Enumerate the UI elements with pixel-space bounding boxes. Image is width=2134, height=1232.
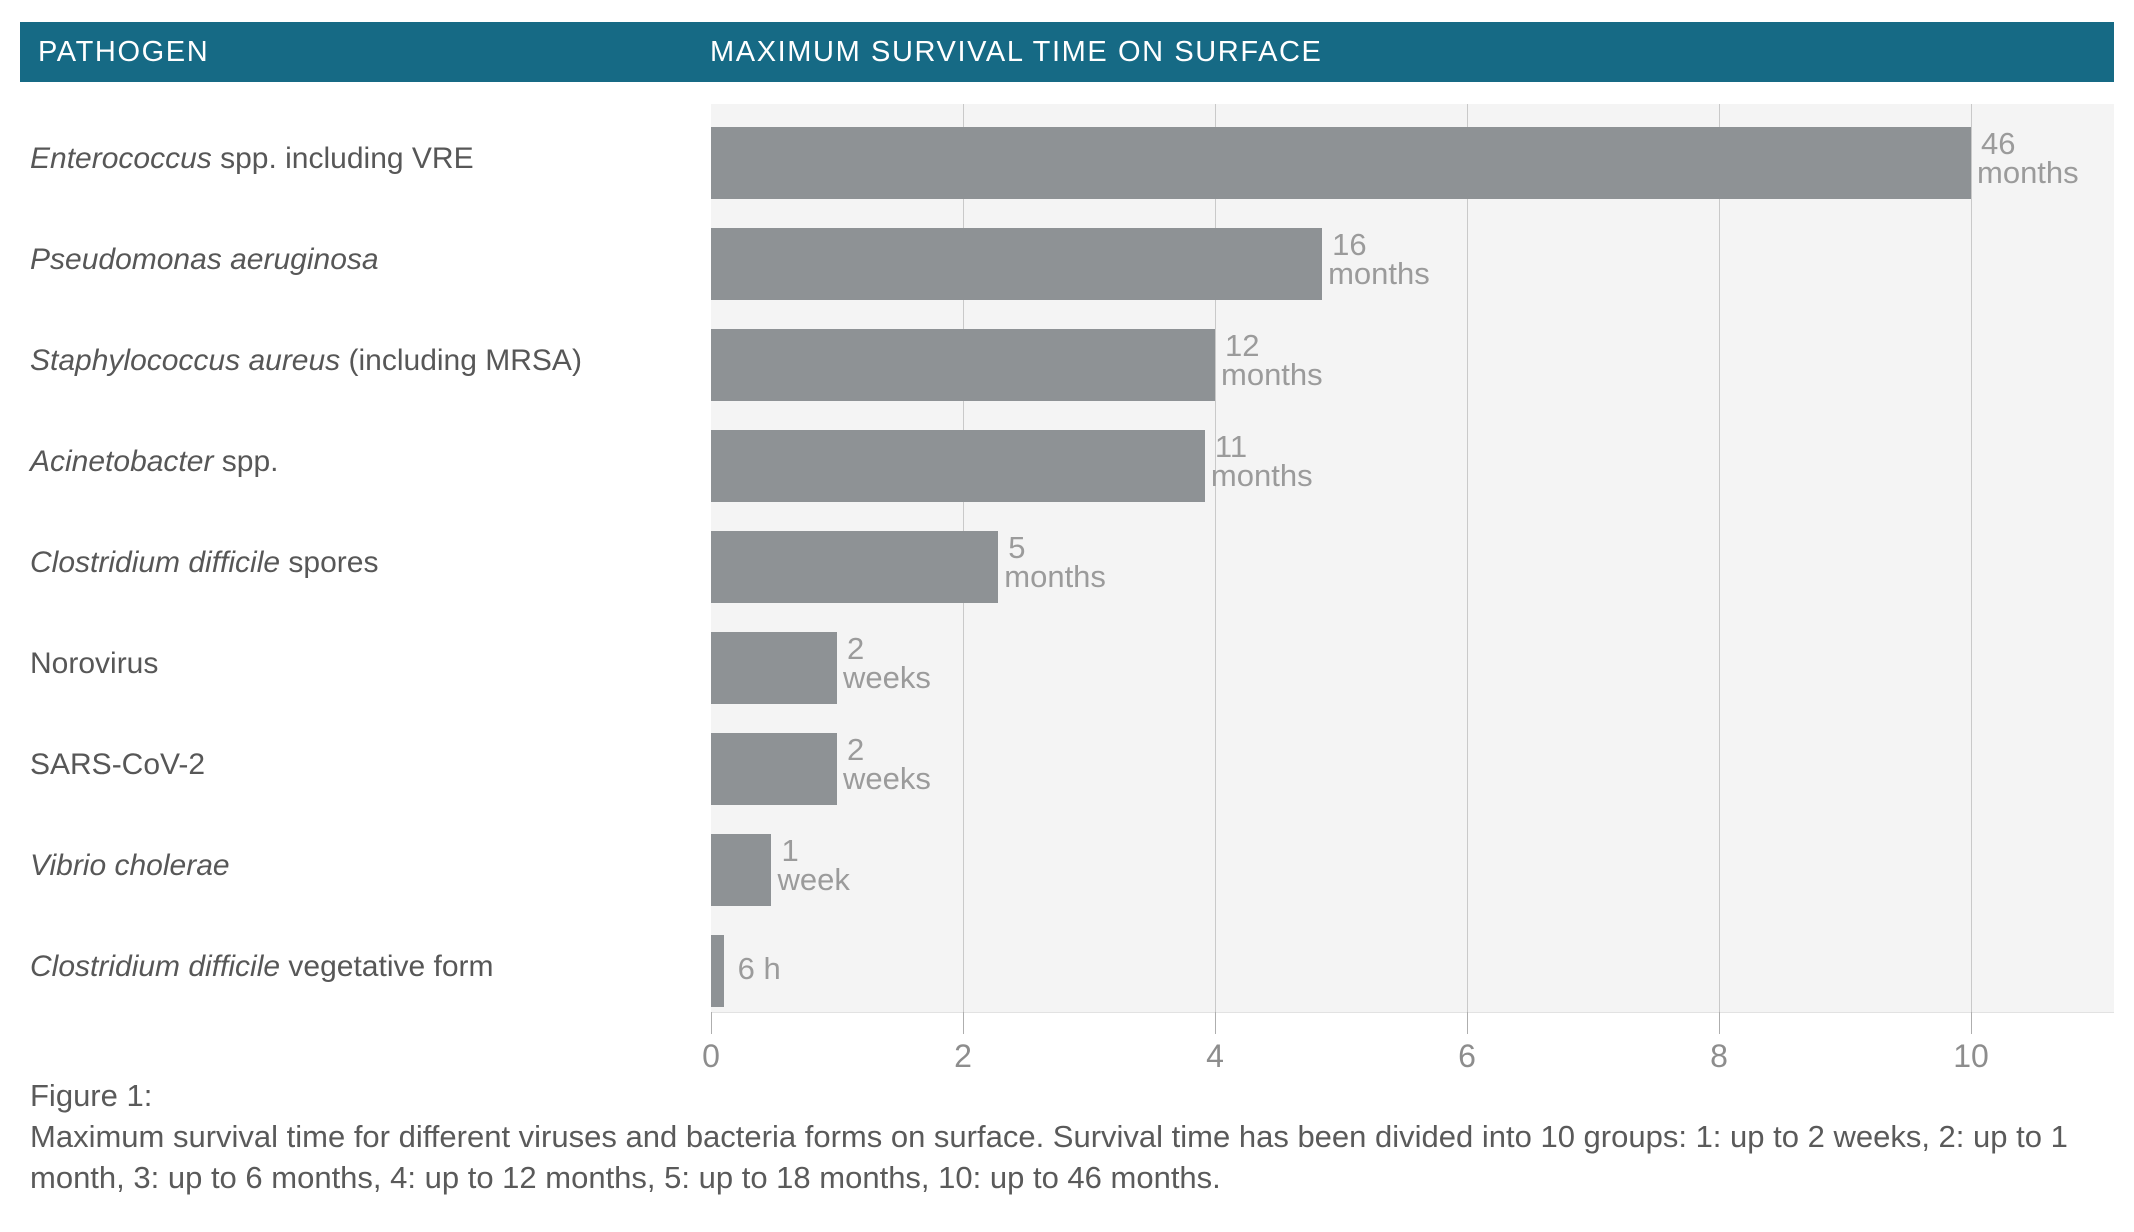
- x-axis-baseline: [711, 1012, 2114, 1013]
- pathogen-label-suffix: SARS-CoV-2: [30, 748, 205, 781]
- bar-value-label: 2weeks: [847, 635, 931, 693]
- bar-value-label: 12months: [1225, 332, 1323, 390]
- bar: [711, 430, 1205, 502]
- bar-value-label: 1week: [781, 837, 849, 895]
- bar-value-unit: months: [1328, 260, 1430, 289]
- bar-value-label: 6 h: [738, 953, 781, 984]
- pathogen-label-suffix: spp. including VRE: [212, 142, 474, 175]
- figure-caption-body: Maximum survival time for different viru…: [30, 1117, 2110, 1199]
- pathogen-label-suffix: vegetative form: [280, 950, 493, 983]
- gridline-x-6: [1467, 104, 1468, 1012]
- x-tick-10: [1971, 1012, 1972, 1034]
- bar: [711, 935, 724, 1007]
- bar: [711, 127, 1971, 199]
- bar: [711, 531, 998, 603]
- x-tick-4: [1215, 1012, 1216, 1034]
- x-tick-8: [1719, 1012, 1720, 1034]
- pathogen-label: Acinetobacter spp.: [30, 445, 279, 479]
- pathogen-label: Pseudomonas aeruginosa: [30, 243, 379, 277]
- x-tick-label-2: 2: [954, 1038, 972, 1075]
- gridline-x-8: [1719, 104, 1720, 1012]
- pathogen-label-suffix: (including MRSA): [340, 344, 582, 377]
- pathogen-species-name: Staphylococcus aureus: [30, 344, 340, 377]
- pathogen-species-name: Clostridium difficile: [30, 546, 280, 579]
- x-tick-label-0: 0: [702, 1038, 720, 1075]
- bar: [711, 834, 771, 906]
- header-column-pathogen: PATHOGEN: [20, 36, 710, 69]
- bar-value-unit: week: [777, 866, 849, 895]
- x-tick-label-4: 4: [1206, 1038, 1224, 1075]
- x-tick-2: [963, 1012, 964, 1034]
- bar-value-unit: weeks: [843, 765, 931, 794]
- bar-value-unit: months: [1004, 563, 1106, 592]
- pathogen-species-name: Clostridium difficile: [30, 950, 280, 983]
- pathogen-species-name: Enterococcus: [30, 142, 212, 175]
- pathogen-label: Staphylococcus aureus (including MRSA): [30, 344, 582, 378]
- bar: [711, 228, 1322, 300]
- pathogen-label: Norovirus: [30, 647, 158, 681]
- figure-caption-title: Figure 1:: [30, 1076, 2110, 1117]
- pathogen-label: Enterococcus spp. including VRE: [30, 142, 474, 176]
- bar-value-label: 2weeks: [847, 736, 931, 794]
- figure-caption: Figure 1: Maximum survival time for diff…: [30, 1076, 2110, 1199]
- x-tick-label-8: 8: [1710, 1038, 1728, 1075]
- x-tick-6: [1467, 1012, 1468, 1034]
- bar: [711, 632, 837, 704]
- bar-value-label: 16months: [1332, 231, 1430, 289]
- bar-value-label: 11months: [1215, 433, 1313, 491]
- bar-value-unit: months: [1221, 361, 1323, 390]
- x-tick-0: [711, 1012, 712, 1034]
- bar-value-unit: months: [1977, 159, 2079, 188]
- pathogen-label: Clostridium difficile spores: [30, 546, 378, 580]
- bar: [711, 329, 1215, 401]
- table-header-band: PATHOGEN MAXIMUM SURVIVAL TIME ON SURFAC…: [20, 22, 2114, 82]
- bar: [711, 733, 837, 805]
- bar-value-label: 5months: [1008, 534, 1106, 592]
- pathogen-species-name: Pseudomonas aeruginosa: [30, 243, 379, 276]
- bar-value-unit: months: [1211, 462, 1313, 491]
- bar-value-unit: weeks: [843, 664, 931, 693]
- bar-value-number: 6 h: [738, 951, 781, 986]
- x-tick-label-10: 10: [1953, 1038, 1989, 1075]
- pathogen-label-suffix: Norovirus: [30, 647, 158, 680]
- pathogen-species-name: Vibrio cholerae: [30, 849, 230, 882]
- pathogen-label: SARS-CoV-2: [30, 748, 205, 782]
- pathogen-label: Vibrio cholerae: [30, 849, 230, 883]
- pathogen-label-suffix: spp.: [213, 445, 278, 478]
- pathogen-label-suffix: spores: [280, 546, 378, 579]
- header-column-survival-time: MAXIMUM SURVIVAL TIME ON SURFACE: [710, 36, 1323, 69]
- pathogen-species-name: Acinetobacter: [30, 445, 213, 478]
- x-tick-label-6: 6: [1458, 1038, 1476, 1075]
- gridline-x-10: [1971, 104, 1972, 1012]
- bar-value-label: 46months: [1981, 130, 2079, 188]
- pathogen-label: Clostridium difficile vegetative form: [30, 950, 494, 984]
